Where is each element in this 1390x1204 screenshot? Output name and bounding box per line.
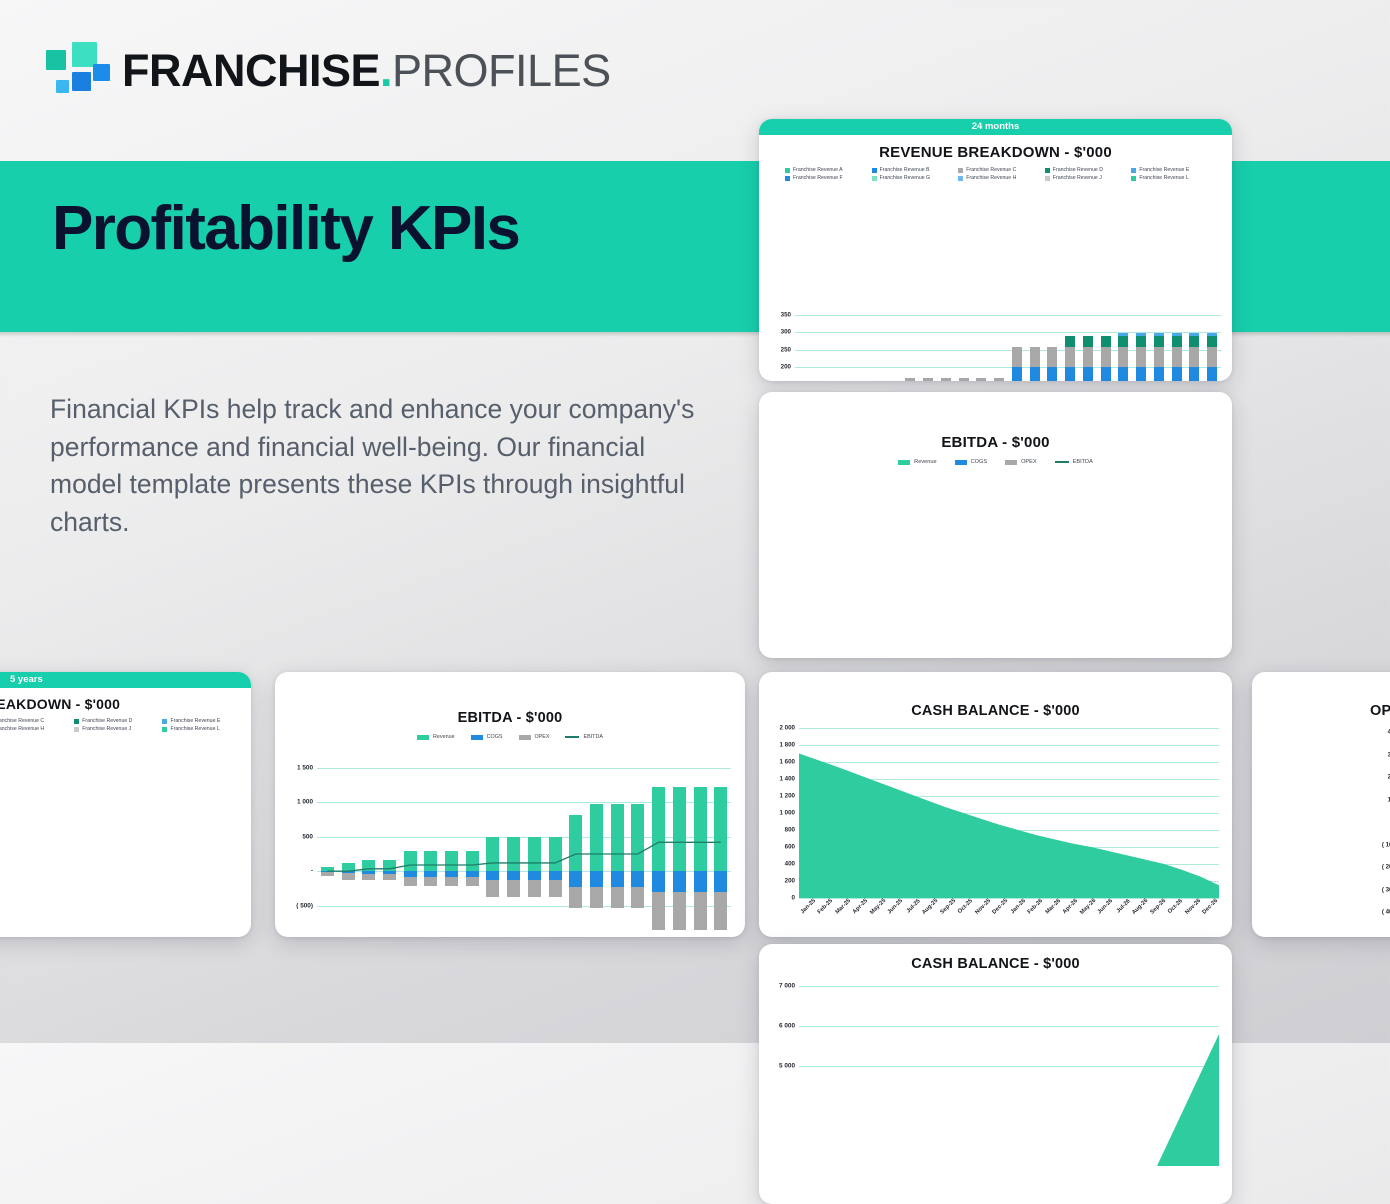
area-series: [799, 728, 1219, 898]
card-cash-balance-24m[interactable]: CASH BALANCE - $'000 2 0001 8001 6001 40…: [759, 672, 1232, 937]
legend-swatch: [162, 719, 167, 724]
x-axis-tick: Dec-25: [992, 898, 1010, 916]
x-axis-tick: Jun-25: [887, 898, 904, 915]
bar-column: [902, 315, 920, 381]
y-axis-tick: 1 800: [765, 742, 795, 749]
y-axis-tick: ( 300): [1368, 886, 1390, 893]
y-axis-tick: (1 000): [281, 937, 313, 938]
y-axis-tick: 800: [765, 827, 795, 834]
bar-segment: [1154, 333, 1164, 336]
bar-column: [990, 315, 1008, 381]
y-axis-tick: 600: [765, 844, 795, 851]
legend-item: Franchise Revenue D: [1039, 167, 1126, 173]
x-axis-column: Feb-25: [817, 900, 835, 934]
y-axis-tick: 1 000: [281, 799, 313, 806]
bar-segment: [1189, 347, 1199, 367]
bar-column: [1097, 315, 1115, 381]
chart-legend: Franchise Revenue AFranchise Revenue BFr…: [759, 167, 1232, 183]
bar-column: [36, 868, 55, 937]
legend-label: Franchise Revenue C: [0, 718, 44, 724]
legend-item: Revenue: [898, 459, 936, 465]
area-series: [799, 986, 1219, 1166]
bar-segment: [1136, 333, 1146, 336]
x-axis-tick: Sep-26: [1149, 898, 1167, 916]
legend-swatch: [417, 735, 429, 740]
x-axis-tick: Nov-25: [974, 898, 992, 916]
plot-area: 35030025020015010050-Jan-25Feb-25Mar-25A…: [795, 315, 1221, 381]
legend-swatch: [1045, 168, 1050, 173]
chart-legend: RevenueCOGSOPEXEBITDA: [759, 459, 1232, 465]
x-axis-column: May-25: [869, 900, 887, 934]
legend-item: Franchise Revenue L: [1125, 175, 1212, 181]
legend-item: Franchise Revenue C: [0, 718, 74, 724]
y-axis-tick: ( 500): [281, 902, 313, 909]
x-axis-column: Sep-25: [939, 900, 957, 934]
bar-segment: [1083, 347, 1093, 367]
legend-label: Franchise Revenue H: [0, 726, 44, 732]
x-axis-tick: Feb-26: [1027, 898, 1044, 915]
bar-column: [206, 868, 225, 937]
bar-segment: [923, 378, 933, 381]
legend-label: OPEX: [535, 734, 550, 740]
card-ebitda-24m[interactable]: EBITDA - $'000 RevenueCOGSOPEXEBITDA 400…: [759, 392, 1232, 658]
legend-swatch: [1131, 168, 1136, 173]
legend-item: Franchise Revenue E: [1125, 167, 1212, 173]
legend-label: Franchise Revenue E: [1139, 167, 1189, 173]
legend-label: OPEX: [1021, 459, 1037, 465]
legend-label: Franchise Revenue C: [966, 167, 1016, 173]
legend-item: Franchise Revenue A: [779, 167, 866, 173]
legend-swatch: [958, 168, 963, 173]
bar-segment: [1083, 336, 1093, 347]
legend-label: Franchise Revenue D: [82, 718, 132, 724]
bar-segment: [1154, 367, 1164, 381]
bar-segment: [1012, 347, 1022, 367]
x-axis-tick: Mar-26: [1044, 898, 1061, 915]
x-axis-tick: Apr-25: [852, 898, 869, 915]
brand-logo: FRANCHISE.PROFILES: [46, 38, 611, 102]
chart-legend: RevenueCOGSOPEXEBITDA: [275, 734, 745, 740]
x-axis-tick: Nov-26: [1184, 898, 1202, 916]
x-axis-column: Nov-25: [974, 900, 992, 934]
x-axis-column: Nov-26: [1184, 900, 1202, 934]
legend-label: Franchise Revenue B: [880, 167, 930, 173]
y-axis-tick: 100: [1368, 796, 1390, 803]
chart-title: OPE: [1252, 703, 1390, 719]
y-axis-tick: 250: [765, 346, 791, 353]
chart-title: REAKDOWN - $'000: [0, 696, 251, 712]
bar-column: [1115, 315, 1133, 381]
legend-item: Franchise Revenue F: [779, 175, 866, 181]
bar-segment: [1065, 367, 1075, 381]
x-axis-column: Aug-26: [1132, 900, 1150, 934]
y-axis-tick: ( 400): [1368, 909, 1390, 916]
y-axis-tick: 200: [765, 878, 795, 885]
legend-label: COGS: [971, 459, 987, 465]
bar-column: [955, 315, 973, 381]
y-axis-tick: 400: [765, 861, 795, 868]
bar-segment: [1207, 367, 1217, 381]
legend-label: Franchise Revenue L: [170, 726, 219, 732]
bar-segment: [941, 378, 951, 381]
x-axis-tick: Oct-25: [957, 898, 974, 915]
bar-column: [1150, 315, 1168, 381]
bar-segment: [1172, 347, 1182, 367]
card-opex[interactable]: OPE 400300200100-( 100)( 200)( 300)( 400…: [1252, 672, 1390, 937]
page-title: Profitability KPIs: [52, 193, 519, 264]
legend-swatch: [872, 176, 877, 181]
bar-segment: [1207, 333, 1217, 336]
legend-swatch: [898, 460, 910, 465]
bar-segment: [1189, 333, 1199, 336]
x-axis-column: Oct-25: [957, 900, 975, 934]
brand-name-bold: FRANCHISE: [122, 45, 380, 96]
ribbon-24-months: 24 months: [759, 119, 1232, 135]
legend-label: Franchise Revenue H: [966, 175, 1016, 181]
bar-segment: [1172, 333, 1182, 336]
y-axis-tick: 7 000: [765, 983, 795, 990]
bar-column: [17, 868, 36, 937]
bar-column: [74, 868, 93, 937]
legend-swatch: [471, 735, 483, 740]
x-axis-column: Mar-25: [834, 900, 852, 934]
bar-segment: [976, 378, 986, 381]
legend-label: EBITDA: [1073, 459, 1093, 465]
bar-column: [1061, 315, 1079, 381]
plot-area: 2 0001 8001 6001 4001 2001 0008006004002…: [799, 728, 1219, 898]
bar-segment: [994, 378, 1004, 381]
bar-segment: [1101, 367, 1111, 381]
x-axis-tick: Jul-26: [1115, 898, 1131, 914]
legend-label: Revenue: [433, 734, 455, 740]
legend-item: COGS: [471, 734, 503, 740]
bar-segment: [1172, 336, 1182, 347]
bar-segment: [1136, 367, 1146, 381]
bar-column: [55, 868, 74, 937]
bar-segment: [1030, 347, 1040, 367]
legend-swatch: [1131, 176, 1136, 181]
chart-title: EBITDA - $'000: [759, 434, 1232, 451]
ebitda-line: [317, 768, 731, 937]
y-axis-tick: 6 000: [765, 1023, 795, 1030]
plot-area: 7 0006 0005 000: [799, 986, 1219, 1166]
y-axis-tick: 300: [1368, 751, 1390, 758]
bar-column: [150, 868, 169, 937]
y-axis-tick: 0: [765, 895, 795, 902]
y-axis-tick: ( 100): [1368, 841, 1390, 848]
bar-segment: [905, 378, 915, 381]
y-axis-tick: 200: [1368, 774, 1390, 781]
bar-column: [1044, 315, 1062, 381]
x-axis-tick: Jun-26: [1097, 898, 1114, 915]
legend-item: Franchise Revenue D: [74, 718, 162, 724]
legend-item: Franchise Revenue E: [162, 718, 250, 724]
x-axis-column: Jul-26: [1114, 900, 1132, 934]
brand-wordmark: FRANCHISE.PROFILES: [122, 48, 611, 93]
card-cash-balance-large[interactable]: CASH BALANCE - $'000 7 0006 0005 000: [759, 944, 1232, 1204]
y-axis-tick: -: [1368, 819, 1390, 826]
legend-swatch: [872, 168, 877, 173]
bar-column: [919, 315, 937, 381]
plot-area: 1 5001 000500-( 500)(1 000)Jan-25Apr-25J…: [317, 768, 731, 937]
legend-label: Franchise Revenue G: [880, 175, 930, 181]
legend-item: EBITDA: [565, 734, 602, 740]
chart-title: CASH BALANCE - $'000: [759, 703, 1232, 719]
legend-item: COGS: [955, 459, 987, 465]
x-axis-column: Jun-26: [1097, 900, 1115, 934]
x-axis-column: Aug-25: [922, 900, 940, 934]
x-axis-tick: Jan-26: [1010, 898, 1027, 915]
legend-label: Franchise Revenue A: [793, 167, 843, 173]
bar-column: [831, 315, 849, 381]
x-axis-tick: Jan-25: [800, 898, 817, 915]
legend-line-marker: [1055, 461, 1069, 463]
bar-column: [866, 315, 884, 381]
legend-label: Revenue: [914, 459, 936, 465]
bar-column: [112, 868, 131, 937]
x-axis-column: May-26: [1079, 900, 1097, 934]
legend-label: Franchise Revenue D: [1053, 167, 1103, 173]
bar-column: [131, 868, 150, 937]
plot-area: Jan-27Mar-27May-27Jul-27Sep-27Nov-27Jan-…: [0, 868, 244, 937]
x-axis-column: Dec-25: [992, 900, 1010, 934]
legend-label: Franchise Revenue F: [793, 175, 843, 181]
y-axis-tick: -: [281, 868, 313, 875]
card-revenue-breakdown-24m[interactable]: 24 months REVENUE BREAKDOWN - $'000 Fran…: [759, 119, 1232, 381]
bar-segment: [1047, 347, 1057, 367]
bar-column: [1008, 315, 1026, 381]
brand-name-light: PROFILES: [392, 45, 611, 96]
x-axis-column: Apr-26: [1062, 900, 1080, 934]
legend-item: Revenue: [417, 734, 455, 740]
legend-swatch: [74, 727, 79, 732]
legend-item: Franchise Revenue H: [0, 726, 74, 732]
bar-segment: [1118, 333, 1128, 336]
legend-item: Franchise Revenue L: [162, 726, 250, 732]
x-axis-column: Jan-26: [1009, 900, 1027, 934]
x-axis-column: Jun-25: [887, 900, 905, 934]
x-axis-tick: Mar-25: [834, 898, 851, 915]
y-axis-tick: 200: [765, 364, 791, 371]
legend-item: OPEX: [519, 734, 550, 740]
bar-column: [813, 315, 831, 381]
legend-label: Franchise Revenue J: [82, 726, 131, 732]
bar-segment: [1030, 367, 1040, 381]
card-revenue-breakdown-5y[interactable]: 5 years REAKDOWN - $'000 Franchise Reven…: [0, 672, 251, 937]
bar-segment: [1154, 347, 1164, 367]
x-axis-tick: Oct-26: [1167, 898, 1184, 915]
bar-segment: [1118, 367, 1128, 381]
bar-segment: [1118, 347, 1128, 367]
x-axis-column: Dec-26: [1202, 900, 1220, 934]
x-axis-column: Feb-26: [1027, 900, 1045, 934]
bar-series: [0, 868, 244, 937]
legend-item: Franchise Revenue G: [866, 175, 953, 181]
x-axis-labels: Jan-25Feb-25Mar-25Apr-25May-25Jun-25Jul-…: [799, 900, 1219, 934]
bar-column: [0, 868, 17, 937]
legend-item: OPEX: [1005, 459, 1037, 465]
y-axis-tick: 2 000: [765, 725, 795, 732]
legend-swatch: [958, 176, 963, 181]
legend-label: Franchise Revenue E: [170, 718, 220, 724]
legend-label: Franchise Revenue J: [1053, 175, 1102, 181]
hero-paragraph: Financial KPIs help track and enhance yo…: [50, 391, 715, 542]
legend-swatch: [74, 719, 79, 724]
legend-swatch: [955, 460, 967, 465]
legend-label: COGS: [487, 734, 503, 740]
bar-column: [1026, 315, 1044, 381]
legend-swatch: [1005, 460, 1017, 465]
x-axis-tick: May-25: [869, 898, 887, 916]
legend-label: EBITDA: [583, 734, 602, 740]
brand-dot: .: [380, 45, 392, 96]
x-axis-column: Apr-25: [852, 900, 870, 934]
x-axis-column: Oct-26: [1167, 900, 1185, 934]
legend-swatch: [519, 735, 531, 740]
card-ebitda-5y[interactable]: EBITDA - $'000 RevenueCOGSOPEXEBITDA 1 5…: [275, 672, 745, 937]
bar-column: [1132, 315, 1150, 381]
bar-segment: [1136, 336, 1146, 347]
logo-mark-icon: [46, 42, 108, 98]
bar-segment: [1172, 367, 1182, 381]
bar-segment: [1189, 336, 1199, 347]
bar-segment: [1189, 367, 1199, 381]
bar-segment: [959, 378, 969, 381]
y-axis-tick: 5 000: [765, 1063, 795, 1070]
y-axis-tick: 1 600: [765, 759, 795, 766]
x-axis-tick: May-26: [1079, 898, 1097, 916]
y-axis-tick: ( 200): [1368, 864, 1390, 871]
x-axis-tick: Aug-25: [921, 898, 939, 916]
legend-item: Franchise Revenue J: [1039, 175, 1126, 181]
bar-segment: [1047, 367, 1057, 381]
bar-column: [1168, 315, 1186, 381]
legend-item: EBITDA: [1055, 459, 1093, 465]
bar-column: [1079, 315, 1097, 381]
bar-column: [225, 868, 244, 937]
y-axis-tick: 300: [765, 329, 791, 336]
bar-segment: [1101, 336, 1111, 347]
y-axis-tick: 500: [281, 833, 313, 840]
x-axis-tick: Sep-25: [939, 898, 957, 916]
legend-label: Franchise Revenue L: [1139, 175, 1188, 181]
y-axis-tick: 1 200: [765, 793, 795, 800]
bar-column: [973, 315, 991, 381]
bar-segment: [1136, 347, 1146, 367]
x-axis-tick: Dec-26: [1202, 898, 1220, 916]
legend-item: Franchise Revenue C: [952, 167, 1039, 173]
bar-segment: [1207, 336, 1217, 347]
bar-column: [937, 315, 955, 381]
x-axis-column: Jan-25: [799, 900, 817, 934]
y-axis-tick: 1 000: [765, 810, 795, 817]
x-axis-tick: Feb-25: [817, 898, 834, 915]
chart-title: EBITDA - $'000: [275, 710, 745, 726]
bar-column: [168, 868, 187, 937]
chart-title: CASH BALANCE - $'000: [759, 956, 1232, 972]
x-axis-tick: Aug-26: [1131, 898, 1149, 916]
chart-title: REVENUE BREAKDOWN - $'000: [759, 144, 1232, 161]
y-axis-tick: 1 500: [281, 765, 313, 772]
bar-segment: [1012, 367, 1022, 381]
ribbon-5-years: 5 years: [0, 672, 251, 688]
legend-item: Franchise Revenue J: [74, 726, 162, 732]
bar-column: [1203, 315, 1221, 381]
bar-segment: [1065, 347, 1075, 367]
bar-segment: [1118, 336, 1128, 347]
bar-segment: [1207, 347, 1217, 367]
legend-item: Franchise Revenue H: [952, 175, 1039, 181]
bar-segment: [1101, 347, 1111, 367]
bar-column: [848, 315, 866, 381]
legend-swatch: [162, 727, 167, 732]
x-axis-tick: Apr-26: [1062, 898, 1079, 915]
y-axis-tick: 350: [765, 312, 791, 319]
legend-line-marker: [565, 736, 579, 738]
legend-swatch: [1045, 176, 1050, 181]
chart-legend: Franchise Revenue CFranchise Revenue DFr…: [0, 718, 251, 734]
bar-column: [1186, 315, 1204, 381]
bar-segment: [1083, 367, 1093, 381]
x-axis-column: Mar-26: [1044, 900, 1062, 934]
x-axis-column: Jul-25: [904, 900, 922, 934]
x-axis-tick: Jul-25: [905, 898, 921, 914]
y-axis-tick: 400: [1368, 729, 1390, 736]
y-axis-tick: 1 400: [765, 776, 795, 783]
bar-segment: [1065, 336, 1075, 347]
legend-item: Franchise Revenue B: [866, 167, 953, 173]
bar-series: [795, 315, 1221, 381]
legend-swatch: [785, 176, 790, 181]
bar-column: [93, 868, 112, 937]
bar-column: [187, 868, 206, 937]
bar-column: [884, 315, 902, 381]
x-axis-column: Sep-26: [1149, 900, 1167, 934]
bar-segment: [1154, 336, 1164, 347]
legend-swatch: [785, 168, 790, 173]
bar-column: [795, 315, 813, 381]
